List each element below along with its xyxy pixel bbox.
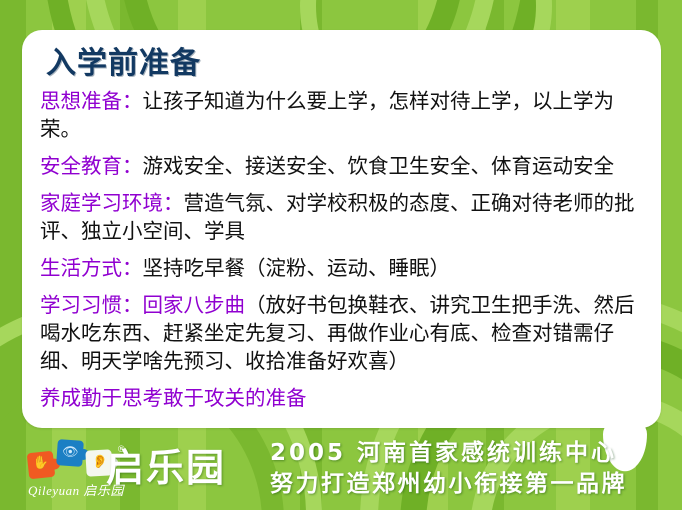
- slogan-block: 2005 河南首家感统训练中心 努力打造郑州幼小衔接第一品牌: [270, 438, 670, 500]
- footer-banner: ✋ 👁 👂 ® Qileyuan 启乐园 启乐园 2005 河南首家感统训练中心…: [0, 426, 682, 510]
- section-paragraph: 思想准备：让孩子知道为什么要上学，怎样对待上学，以上学为荣。: [40, 88, 645, 144]
- puzzle-piece-eyes-icon: 👁: [56, 439, 84, 467]
- closing-line: 养成勤于思考敢于攻关的准备: [40, 385, 645, 413]
- content-card: 入学前准备 思想准备：让孩子知道为什么要上学，怎样对待上学，以上学为荣。 安全教…: [22, 30, 661, 428]
- section-label: 家庭学习环境：: [40, 193, 184, 215]
- section-paragraph: 学习习惯：回家八步曲（放好书包换鞋衣、讲究卫生把手洗、然后喝水吃东西、赶紧坐定先…: [40, 292, 645, 376]
- slogan-line-1: 2005 河南首家感统训练中心: [270, 438, 670, 469]
- section-label: 学习习惯：回家八步曲: [40, 295, 245, 317]
- section-text: 游戏安全、接送安全、饮食卫生安全、体育运动安全: [143, 156, 615, 178]
- section-label: 安全教育：: [40, 156, 143, 178]
- puzzle-piece-hand-icon: ✋: [27, 451, 56, 480]
- eyes-icon: 👁: [62, 445, 79, 459]
- brand-name: 启乐园: [106, 446, 226, 490]
- section-paragraph: 安全教育：游戏安全、接送安全、饮食卫生安全、体育运动安全: [40, 153, 645, 181]
- page-title: 入学前准备: [46, 46, 645, 82]
- slogan-line-2: 努力打造郑州幼小衔接第一品牌: [270, 469, 670, 500]
- section-label: 生活方式：: [40, 258, 143, 280]
- poster-root: 入学前准备 思想准备：让孩子知道为什么要上学，怎样对待上学，以上学为荣。 安全教…: [0, 0, 682, 510]
- section-paragraph: 家庭学习环境：营造气氛、对学校积极的态度、正确对待老师的批评、独立小空间、学具: [40, 190, 645, 246]
- section-text: 坚持吃早餐（淀粉、运动、睡眠）: [143, 258, 451, 280]
- hand-icon: ✋: [32, 456, 49, 471]
- section-label: 思想准备：: [40, 91, 143, 113]
- section-paragraph: 生活方式：坚持吃早餐（淀粉、运动、睡眠）: [40, 255, 645, 283]
